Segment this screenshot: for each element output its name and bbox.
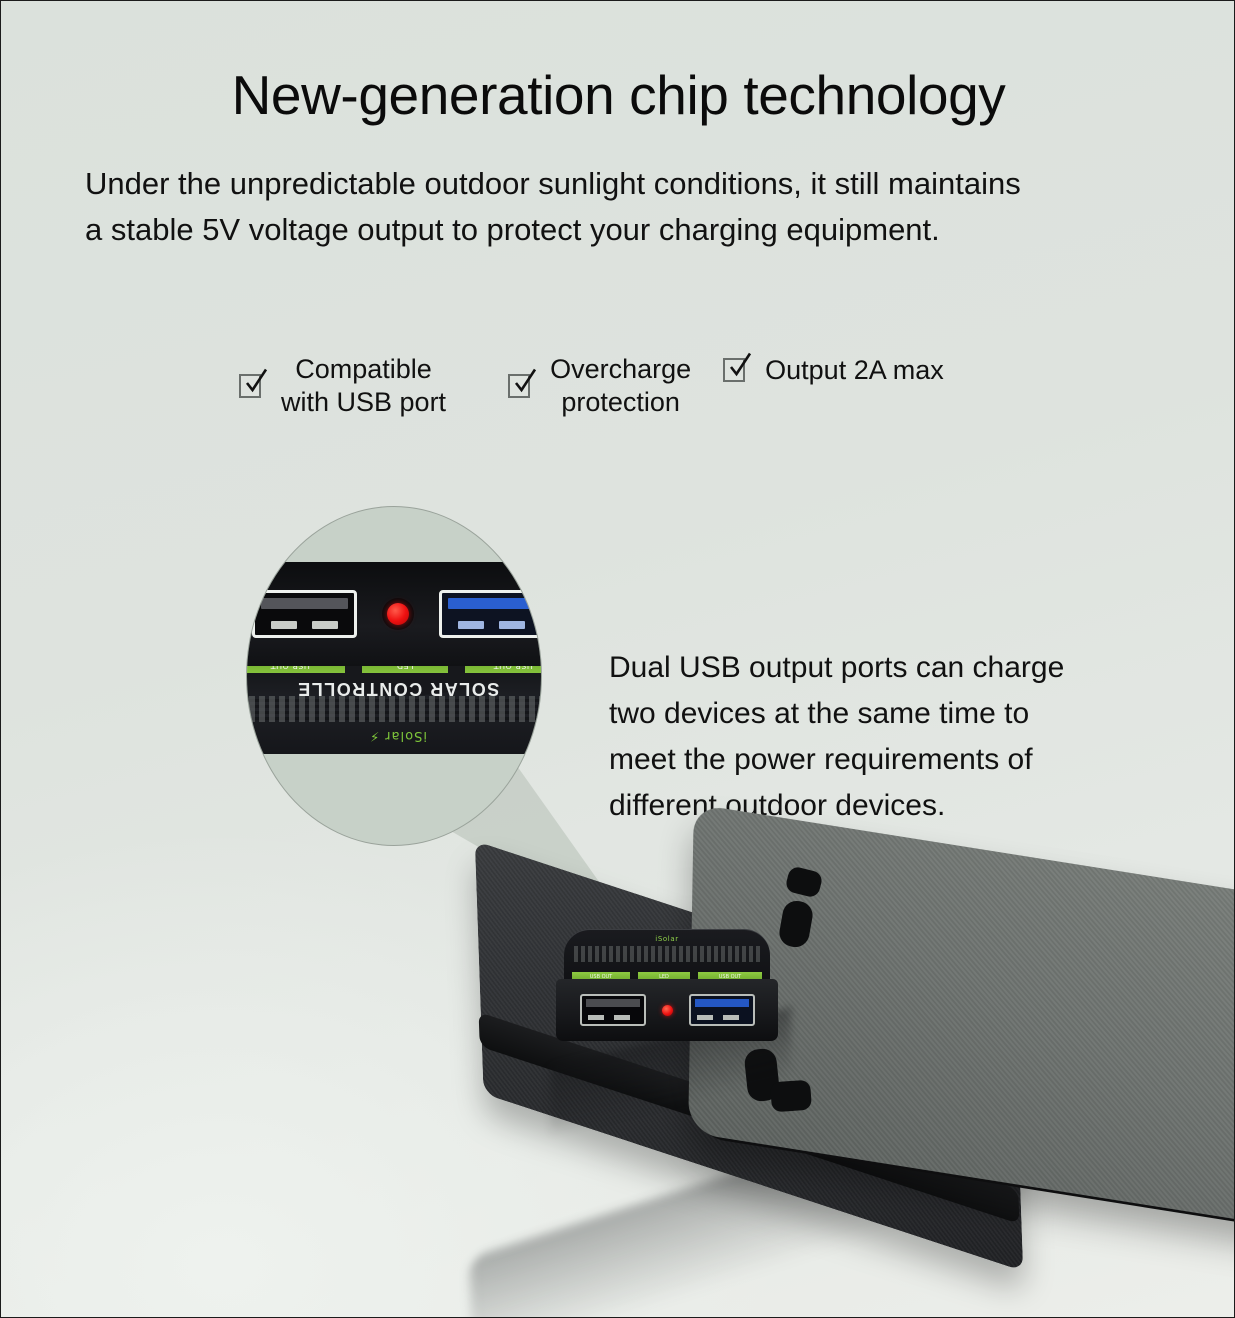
- usb-tongue: [695, 999, 749, 1007]
- usb3-port: [689, 994, 755, 1026]
- status-led-icon: [662, 1005, 673, 1016]
- panel-hook-tab: [770, 1080, 812, 1113]
- usb-pins: [697, 1015, 747, 1020]
- usb-a-port: [580, 994, 646, 1026]
- module-fineprint: [574, 946, 760, 962]
- module-front-face: [556, 979, 778, 1041]
- infographic-page: New-generation chip technology Under the…: [0, 0, 1235, 1318]
- usb-tongue: [586, 999, 640, 1007]
- usb-pins: [588, 1015, 638, 1020]
- module-brand-logo: iSolar: [655, 935, 678, 943]
- module-top-face: iSolar USB OUT LED USB OUT: [564, 929, 770, 986]
- product-photo: iSolar USB OUT LED USB OUT: [1, 1, 1235, 1318]
- controller-module: iSolar USB OUT LED USB OUT: [556, 929, 778, 1041]
